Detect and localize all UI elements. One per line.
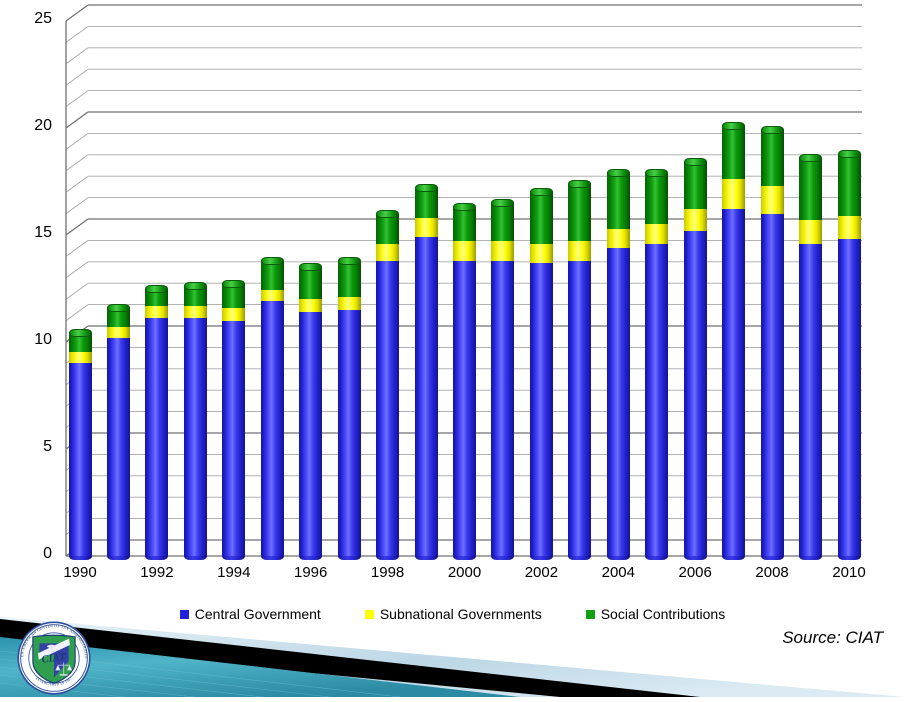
bar-column[interactable] xyxy=(415,188,438,556)
bar-top-cap xyxy=(722,122,745,130)
bar-segment-central-government[interactable] xyxy=(799,244,822,556)
bar-column[interactable] xyxy=(799,158,822,556)
bar-column[interactable] xyxy=(838,154,861,556)
ciat-logo: INTER-AMERICAN CENTER OF TAX ADMINISTRAT… xyxy=(6,619,102,697)
bar-segment-social-contributions[interactable] xyxy=(415,188,438,218)
bar-segment-central-government[interactable] xyxy=(222,321,245,556)
legend-swatch-icon xyxy=(180,610,189,619)
bar-segment-social-contributions[interactable] xyxy=(799,158,822,220)
bar-top-cap xyxy=(838,150,861,158)
bar-series-layer xyxy=(0,0,905,600)
bar-segment-central-government[interactable] xyxy=(261,301,284,556)
bar-top-cap xyxy=(107,304,130,312)
bar-segment-central-government[interactable] xyxy=(376,261,399,556)
bar-top-cap xyxy=(491,199,514,207)
bar-column[interactable] xyxy=(107,308,130,556)
bar-segment-central-government[interactable] xyxy=(453,261,476,556)
bar-top-cap xyxy=(145,285,168,293)
bar-top-cap xyxy=(415,184,438,192)
bar-top-cap xyxy=(761,126,784,134)
x-axis-tick-label: 2006 xyxy=(665,564,725,581)
footer-banner xyxy=(0,617,905,697)
bar-column[interactable] xyxy=(299,267,322,556)
legend-swatch-icon xyxy=(586,610,595,619)
bar-column[interactable] xyxy=(261,261,284,556)
bar-segment-central-government[interactable] xyxy=(491,261,514,556)
bar-segment-social-contributions[interactable] xyxy=(338,261,361,297)
bar-top-cap xyxy=(376,210,399,218)
chart-page: 0510152025 19901992199419961998200020022… xyxy=(0,0,905,697)
bar-top-cap xyxy=(222,280,245,288)
x-axis-tick-label: 1990 xyxy=(50,564,110,581)
bar-segment-social-contributions[interactable] xyxy=(299,267,322,299)
legend-item[interactable]: Subnational Governments xyxy=(365,606,542,622)
x-axis-tick-label: 1994 xyxy=(204,564,264,581)
bar-column[interactable] xyxy=(491,203,514,556)
bar-segment-central-government[interactable] xyxy=(684,231,707,556)
x-axis-tick-label: 1996 xyxy=(281,564,341,581)
bar-column[interactable] xyxy=(568,184,591,556)
bar-column[interactable] xyxy=(645,173,668,556)
bar-column[interactable] xyxy=(607,173,630,556)
bar-segment-social-contributions[interactable] xyxy=(453,207,476,241)
bar-segment-social-contributions[interactable] xyxy=(684,162,707,209)
legend-label: Central Government xyxy=(195,606,321,622)
bar-segment-social-contributions[interactable] xyxy=(491,203,514,242)
bar-column[interactable] xyxy=(530,192,553,556)
bar-segment-social-contributions[interactable] xyxy=(568,184,591,242)
bar-top-cap xyxy=(453,203,476,211)
bar-segment-central-government[interactable] xyxy=(761,214,784,556)
bar-column[interactable] xyxy=(684,162,707,556)
bar-segment-social-contributions[interactable] xyxy=(607,173,630,229)
bar-segment-central-government[interactable] xyxy=(530,263,553,556)
bar-column[interactable] xyxy=(222,284,245,556)
bar-segment-central-government[interactable] xyxy=(69,363,92,556)
bar-segment-social-contributions[interactable] xyxy=(722,126,745,180)
x-axis-tick-label: 2000 xyxy=(435,564,495,581)
x-axis-tick-label: 1998 xyxy=(358,564,418,581)
bar-top-cap xyxy=(684,158,707,166)
bar-top-cap xyxy=(299,263,322,271)
bar-column[interactable] xyxy=(69,333,92,556)
bar-segment-central-government[interactable] xyxy=(645,244,668,556)
x-axis-tick-label: 2008 xyxy=(742,564,802,581)
bar-top-cap xyxy=(184,282,207,290)
bar-top-cap xyxy=(530,188,553,196)
x-axis-tick-label: 2004 xyxy=(588,564,648,581)
bar-segment-central-government[interactable] xyxy=(299,312,322,556)
bar-segment-social-contributions[interactable] xyxy=(838,154,861,216)
bar-segment-central-government[interactable] xyxy=(568,261,591,556)
bar-column[interactable] xyxy=(761,130,784,556)
bar-segment-social-contributions[interactable] xyxy=(530,192,553,243)
chart-legend: Central GovernmentSubnational Government… xyxy=(0,600,905,628)
legend-swatch-icon xyxy=(365,610,374,619)
legend-item[interactable]: Central Government xyxy=(180,606,321,622)
bar-segment-social-contributions[interactable] xyxy=(261,261,284,290)
bar-column[interactable] xyxy=(184,286,207,556)
bar-top-cap xyxy=(338,257,361,265)
legend-item[interactable]: Social Contributions xyxy=(586,606,726,622)
bar-segment-central-government[interactable] xyxy=(145,318,168,556)
bar-segment-central-government[interactable] xyxy=(722,209,745,556)
chart-plot-area: 0510152025 19901992199419961998200020022… xyxy=(0,0,905,600)
bar-top-cap xyxy=(261,257,284,265)
bar-segment-central-government[interactable] xyxy=(107,338,130,556)
bar-segment-social-contributions[interactable] xyxy=(645,173,668,224)
bar-segment-central-government[interactable] xyxy=(607,248,630,556)
bar-segment-central-government[interactable] xyxy=(338,310,361,556)
x-axis-tick-label: 2002 xyxy=(511,564,571,581)
bar-column[interactable] xyxy=(338,261,361,556)
bar-column[interactable] xyxy=(453,207,476,556)
bar-segment-central-government[interactable] xyxy=(184,318,207,556)
bar-top-cap xyxy=(568,180,591,188)
bar-segment-social-contributions[interactable] xyxy=(376,214,399,244)
legend-label: Subnational Governments xyxy=(380,606,542,622)
bar-top-cap xyxy=(69,329,92,337)
bar-top-cap xyxy=(607,169,630,177)
bar-column[interactable] xyxy=(722,126,745,556)
bar-top-cap xyxy=(799,154,822,162)
x-axis-tick-label: 1992 xyxy=(127,564,187,581)
bar-column[interactable] xyxy=(376,214,399,556)
legend-label: Social Contributions xyxy=(601,606,726,622)
bar-column[interactable] xyxy=(145,289,168,557)
bar-top-cap xyxy=(645,169,668,177)
bar-segment-social-contributions[interactable] xyxy=(761,130,784,186)
x-axis-tick-label: 2010 xyxy=(819,564,879,581)
source-note: Source: CIAT xyxy=(782,628,883,648)
bar-segment-central-government[interactable] xyxy=(415,237,438,556)
bar-segment-central-government[interactable] xyxy=(838,239,861,556)
